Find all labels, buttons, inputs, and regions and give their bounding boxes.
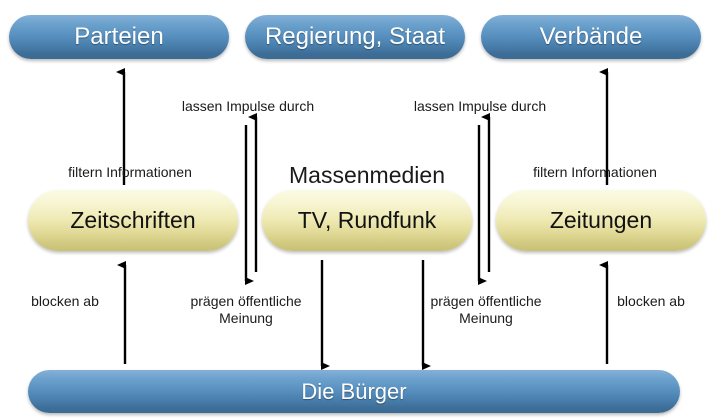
edge-label-praegen-oeffentliche-meinung-right: prägen öffentliche Meinung	[406, 293, 566, 327]
edge-label-filtern-informationen-right: filtern Informationen	[495, 164, 695, 181]
edge-label-praegen-oeffentliche-meinung-left: prägen öffentliche Meinung	[166, 293, 326, 327]
diagram-canvas: Parteien Regierung, Staat Verbände lasse…	[0, 0, 710, 420]
node-tv-rundfunk[interactable]: TV, Rundfunk	[262, 190, 472, 251]
edge-label-lassen-impulse-durch-right: lassen Impulse durch	[380, 98, 580, 115]
edge-label-filtern-informationen-left: filtern Informationen	[30, 164, 230, 181]
node-tv-rundfunk-label: TV, Rundfunk	[298, 207, 437, 234]
edge-label-blocken-ab-right: blocken ab	[596, 293, 706, 310]
node-parteien[interactable]: Parteien	[9, 15, 229, 59]
node-zeitungen-label: Zeitungen	[550, 207, 652, 234]
node-zeitungen[interactable]: Zeitungen	[496, 190, 706, 251]
node-regierung-staat[interactable]: Regierung, Staat	[245, 15, 465, 59]
node-die-buerger[interactable]: Die Bürger	[28, 370, 680, 413]
edge-label-lassen-impulse-durch-left: lassen Impulse durch	[148, 98, 348, 115]
node-die-buerger-label: Die Bürger	[301, 379, 406, 405]
node-parteien-label: Parteien	[74, 23, 163, 51]
node-zeitschriften[interactable]: Zeitschriften	[28, 190, 238, 251]
node-zeitschriften-label: Zeitschriften	[70, 207, 195, 234]
group-title-massenmedien: Massenmedien	[262, 162, 472, 188]
node-regierung-staat-label: Regierung, Staat	[265, 23, 445, 51]
node-verbaende[interactable]: Verbände	[481, 15, 701, 59]
edge-label-blocken-ab-left: blocken ab	[10, 293, 120, 310]
node-verbaende-label: Verbände	[540, 23, 643, 51]
